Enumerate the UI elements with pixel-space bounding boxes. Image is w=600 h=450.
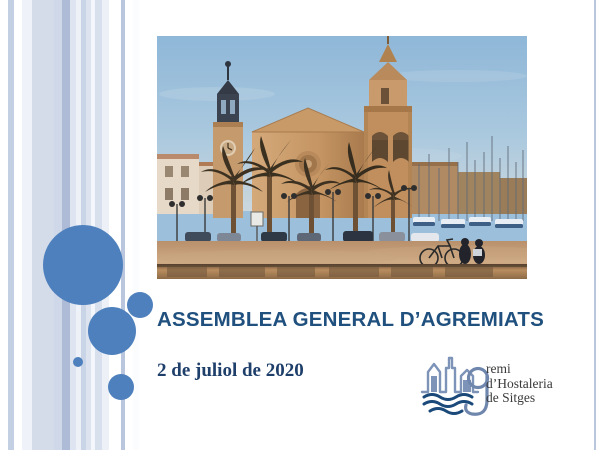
stripe-11	[95, 0, 102, 450]
stripe-2	[22, 0, 32, 450]
stripe-1	[8, 0, 14, 450]
slide-date: 2 de juliol de 2020	[157, 360, 304, 382]
page-title: ASSEMBLEA GENERAL D’AGREMIATS	[157, 308, 577, 332]
logo-line-1: remi	[486, 362, 553, 377]
right-edge-rule	[594, 0, 596, 450]
stripe-5	[62, 0, 70, 450]
stripe-4	[54, 0, 62, 450]
logo-line-3: de Sitges	[486, 391, 553, 406]
logo-wordmark: remi d’Hostaleria de Sitges	[486, 362, 553, 406]
gremi-hostaleria-sitges-logo: remi d’Hostaleria de Sitges	[418, 348, 588, 420]
stripe-14	[133, 0, 139, 450]
circle-medium	[88, 307, 136, 355]
title-slide-photo	[157, 36, 527, 279]
logo-line-2: d’Hostaleria	[486, 377, 553, 392]
circle-small-bottom	[108, 374, 134, 400]
circle-large	[43, 225, 123, 305]
circle-small-top	[127, 292, 153, 318]
stripe-3	[32, 0, 54, 450]
circle-tiny	[73, 357, 83, 367]
presentation-title-slide: ASSEMBLEA GENERAL D’AGREMIATS 2 de julio…	[0, 0, 600, 450]
